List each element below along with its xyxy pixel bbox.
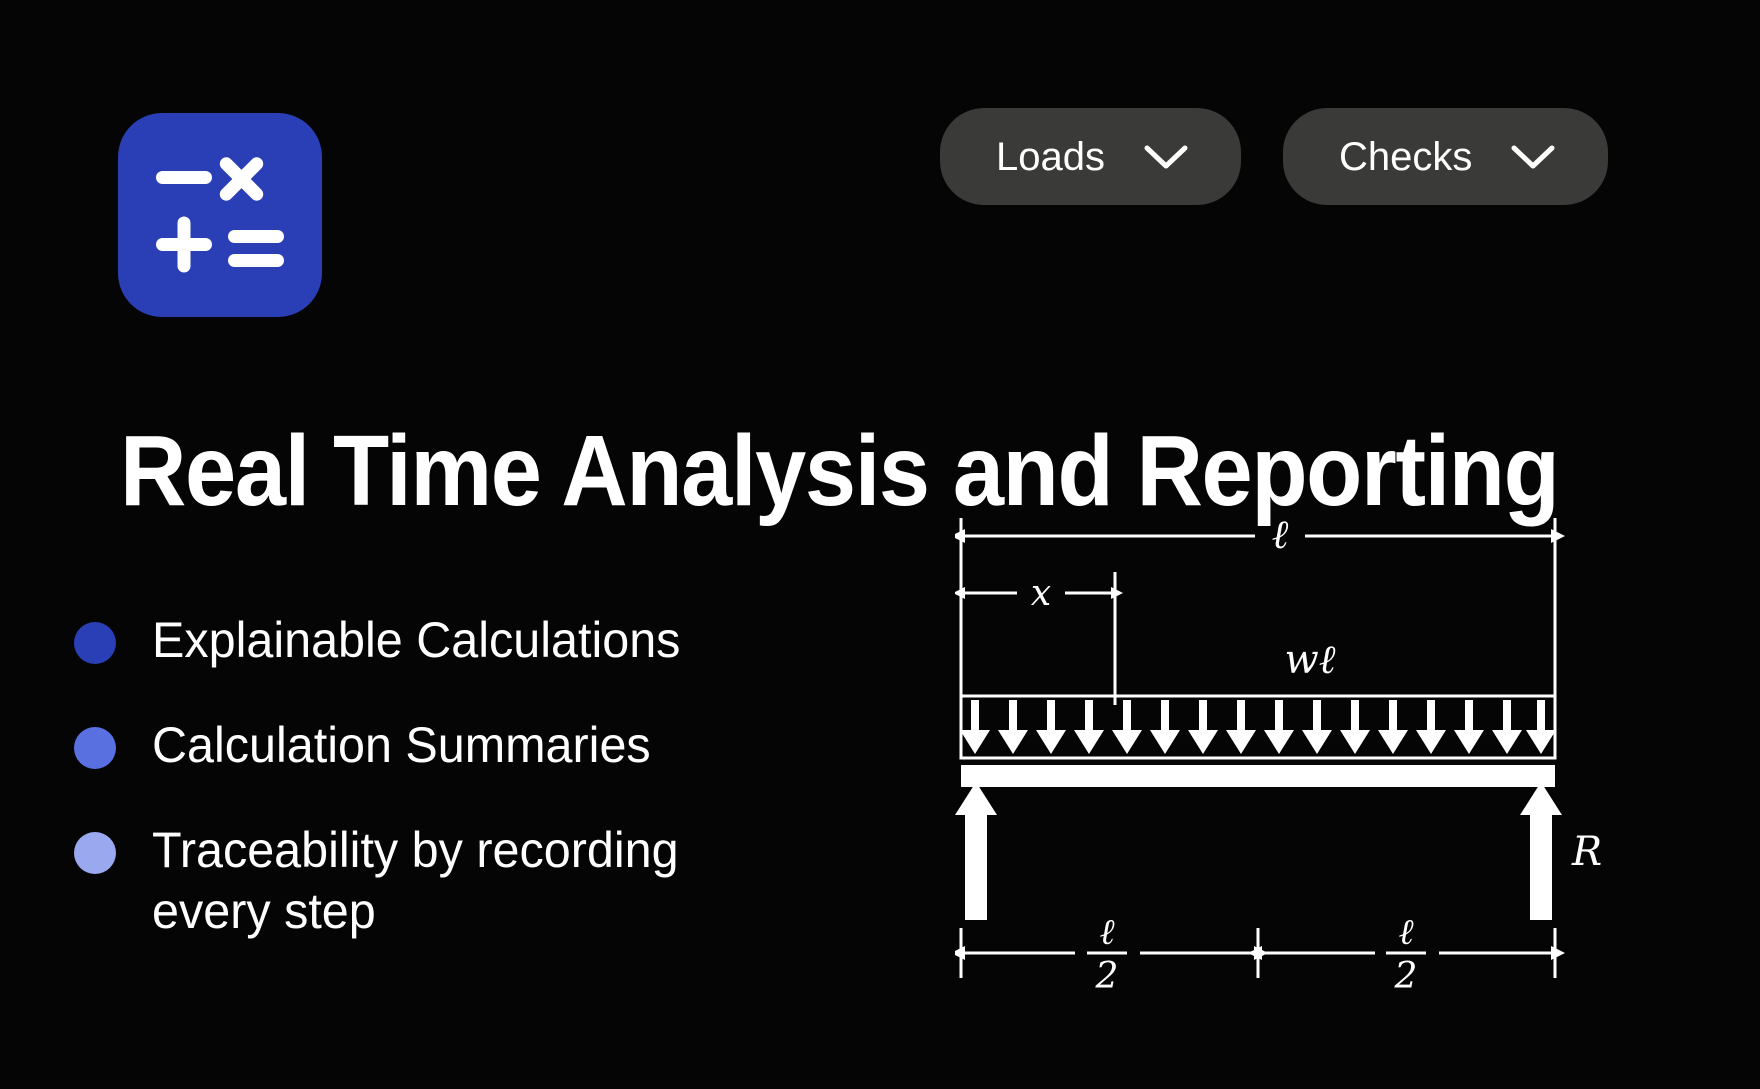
minus-glyph	[156, 171, 212, 184]
span-label: ℓ	[1272, 512, 1289, 558]
list-item: Traceability by recording every step	[74, 820, 894, 942]
list-item: Calculation Summaries	[74, 715, 894, 776]
calculator-icon	[118, 113, 322, 317]
distributed-load	[960, 696, 1556, 758]
half-span-right: ℓ 2	[1262, 912, 1551, 990]
feature-label: Explainable Calculations	[152, 610, 680, 671]
half-span-right-numerator: ℓ	[1399, 912, 1414, 953]
half-span-left: ℓ 2	[965, 912, 1254, 990]
half-span-right-denominator: 2	[1394, 956, 1418, 990]
span-dimension: ℓ	[965, 512, 1551, 558]
checks-label: Checks	[1325, 137, 1472, 177]
loads-label: Loads	[982, 137, 1105, 177]
multiply-glyph	[217, 155, 266, 204]
beam-diagram: ℓ x wℓ	[955, 510, 1655, 990]
half-span-left-denominator: 2	[1095, 956, 1119, 990]
page-title: Real Time Analysis and Reporting	[120, 419, 1555, 524]
bullet-dot	[74, 727, 116, 769]
x-dimension: x	[965, 573, 1111, 614]
plus-glyph	[156, 217, 212, 273]
feature-list: Explainable Calculations Calculation Sum…	[74, 610, 894, 986]
feature-label: Traceability by recording every step	[152, 820, 753, 942]
bullet-dot	[74, 622, 116, 664]
toolbar: Loads Checks	[940, 108, 1608, 205]
checks-dropdown-button[interactable]: Checks	[1283, 108, 1608, 205]
half-span-left-numerator: ℓ	[1100, 912, 1115, 953]
slide-root: Loads Checks Real Time Analysis and Repo…	[0, 0, 1760, 1089]
bullet-dot	[74, 832, 116, 874]
feature-label: Calculation Summaries	[152, 715, 651, 776]
chevron-down-icon	[1143, 143, 1199, 171]
list-item: Explainable Calculations	[74, 610, 894, 671]
reaction-right-label: R	[1571, 829, 1602, 875]
chevron-down-icon	[1510, 143, 1566, 171]
equals-glyph	[228, 230, 284, 267]
x-label: x	[1031, 573, 1051, 614]
loads-dropdown-button[interactable]: Loads	[940, 108, 1241, 205]
load-label: wℓ	[1285, 637, 1336, 683]
reaction-right	[1520, 782, 1562, 920]
reaction-left	[955, 782, 997, 920]
beam	[961, 765, 1555, 787]
